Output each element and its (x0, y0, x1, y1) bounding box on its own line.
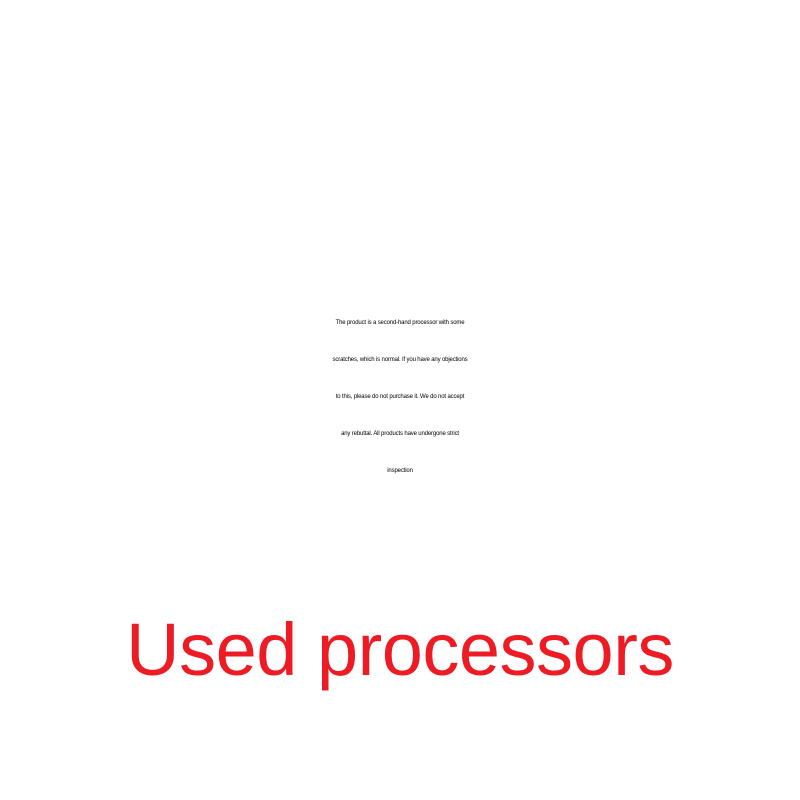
disclaimer-line-5: inspection (14, 453, 786, 490)
disclaimer-line-1: The product is a second-hand processor w… (14, 305, 786, 342)
disclaimer-paragraph: The product is a second-hand processor w… (0, 305, 800, 490)
disclaimer-line-2: scratches, which is normal. If you have … (14, 342, 786, 379)
disclaimer-line-3: to this, please do not purchase it. We d… (14, 379, 786, 416)
disclaimer-line-4: any rebuttal. All products have undergon… (14, 416, 786, 453)
headline: Used processors (0, 604, 800, 696)
headline-text: Used processors (126, 604, 674, 696)
product-notice-graphic: The product is a second-hand processor w… (0, 0, 800, 800)
